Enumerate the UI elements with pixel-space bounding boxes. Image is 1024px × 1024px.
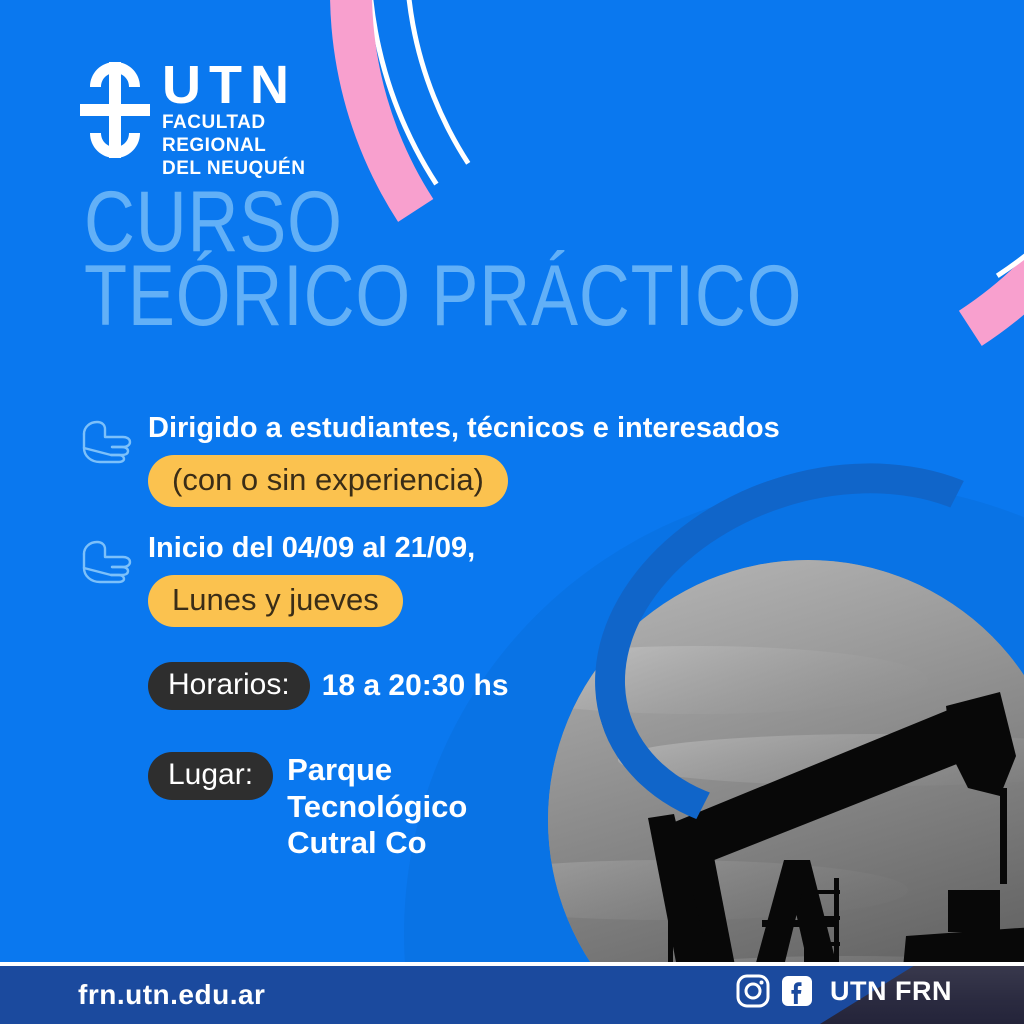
dates-pill: Lunes y jueves — [148, 575, 403, 627]
utn-faculty-line1: FACULTAD — [162, 113, 305, 133]
facebook-icon[interactable] — [780, 974, 814, 1008]
location-value: Parque Tecnológico Cutral Co — [287, 752, 467, 862]
dates-heading: Inicio del 04/09 al 21/09, — [148, 532, 475, 565]
schedule-label: Horarios: — [148, 662, 310, 710]
info-row-schedule: Horarios: 18 a 20:30 hs — [148, 662, 509, 710]
info-row-dates: Inicio del 04/09 al 21/09, Lunes y jueve… — [78, 532, 475, 627]
footer-top-rule — [0, 962, 1024, 966]
title-line-2: TEÓRICO PRÁCTICO — [84, 260, 802, 334]
instagram-icon[interactable] — [736, 974, 770, 1008]
utn-sun-icon — [78, 60, 152, 160]
poster-canvas: UTN FACULTAD REGIONAL DEL NEUQUÉN CURSO … — [0, 0, 1024, 1024]
footer-bar: frn.utn.edu.ar UTN FRN — [0, 962, 1024, 1024]
social-links: UTN FRN — [736, 974, 952, 1008]
dates-text-group: Inicio del 04/09 al 21/09, Lunes y jueve… — [148, 532, 475, 627]
page-title: CURSO TEÓRICO PRÁCTICO — [84, 186, 960, 334]
info-row-location: Lugar: Parque Tecnológico Cutral Co — [148, 752, 467, 862]
audience-text-group: Dirigido a estudiantes, técnicos e inter… — [148, 412, 780, 507]
pointing-hand-icon — [78, 538, 136, 586]
audience-pill: (con o sin experiencia) — [148, 455, 508, 507]
utn-acronym: UTN — [162, 60, 305, 110]
pointing-hand-icon — [78, 418, 136, 466]
audience-heading: Dirigido a estudiantes, técnicos e inter… — [148, 412, 780, 445]
utn-logo-text: UTN FACULTAD REGIONAL DEL NEUQUÉN — [162, 60, 305, 179]
social-handle: UTN FRN — [830, 976, 952, 1007]
location-line-2: Tecnológico — [287, 789, 467, 826]
location-line-3: Cutral Co — [287, 825, 467, 862]
website-url[interactable]: frn.utn.edu.ar — [78, 979, 265, 1011]
location-line-1: Parque — [287, 752, 467, 789]
utn-logo: UTN FACULTAD REGIONAL DEL NEUQUÉN — [78, 60, 305, 179]
info-row-audience: Dirigido a estudiantes, técnicos e inter… — [78, 412, 780, 507]
utn-faculty-line2: REGIONAL — [162, 136, 305, 156]
schedule-value: 18 a 20:30 hs — [322, 669, 509, 703]
location-label: Lugar: — [148, 752, 273, 800]
